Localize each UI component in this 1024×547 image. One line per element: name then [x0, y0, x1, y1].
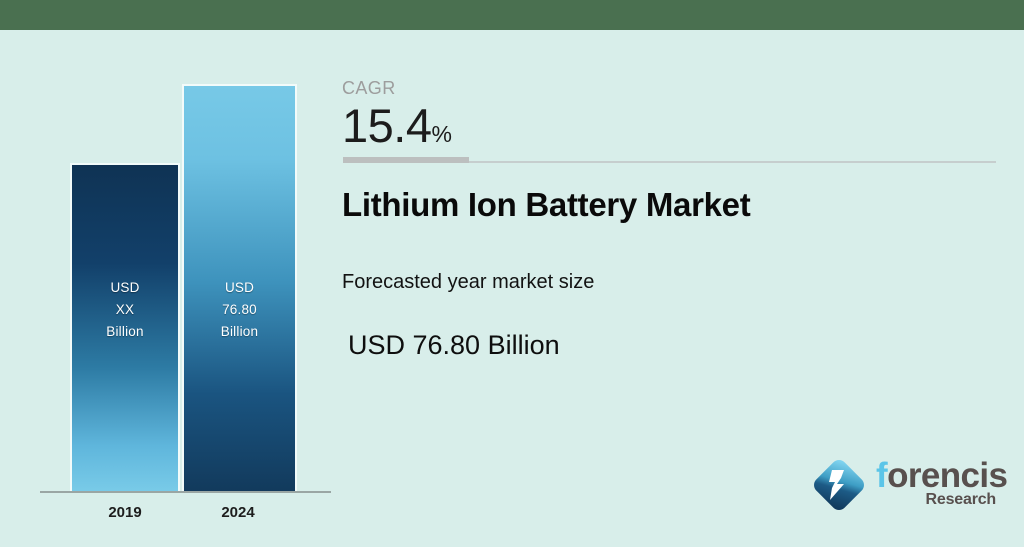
bar-chart: USD XX Billion USD 76.80 Billion 2019 20…	[0, 30, 340, 547]
page-title: Lithium Ion Battery Market	[342, 186, 750, 224]
forencis-diamond-icon	[808, 454, 870, 516]
bar-2019-currency: USD	[72, 277, 178, 299]
logo-word-rest: orencis	[887, 456, 1007, 495]
logo-subtext: Research	[926, 491, 996, 509]
bar-2024: USD 76.80 Billion	[182, 84, 297, 492]
bar-2024-unit: Billion	[184, 321, 295, 343]
forencis-wordmark: forencis Research	[876, 456, 998, 518]
bar-2024-label: USD 76.80 Billion	[184, 277, 295, 343]
cagr-value: 15.4%	[342, 96, 452, 164]
bar-2019-label: USD XX Billion	[72, 277, 178, 343]
cagr-percent-sign: %	[431, 121, 451, 147]
logo-word-f: f	[876, 456, 887, 495]
bar-2019: USD XX Billion	[70, 163, 180, 492]
bar-2019-amount: XX	[72, 299, 178, 321]
bar-2024-amount: 76.80	[184, 299, 295, 321]
x-tick-label-2019: 2019	[69, 504, 181, 521]
bar-2019-unit: Billion	[72, 321, 178, 343]
subtitle: Forecasted year market size	[342, 271, 594, 294]
cagr-number: 15.4	[342, 99, 431, 152]
x-tick-label-2024: 2024	[182, 504, 294, 521]
divider-accent	[343, 157, 469, 163]
logo-word: forencis	[876, 456, 1007, 496]
bar-2024-currency: USD	[184, 277, 295, 299]
forencis-logo: forencis Research	[808, 450, 998, 525]
info-panel: CAGR 15.4% Lithium Ion Battery Market Fo…	[342, 30, 1024, 547]
top-green-band	[0, 0, 1024, 30]
infographic-canvas: USD XX Billion USD 76.80 Billion 2019 20…	[0, 0, 1024, 547]
forecast-value: USD 76.80 Billion	[348, 330, 560, 361]
x-axis-line	[40, 491, 331, 493]
